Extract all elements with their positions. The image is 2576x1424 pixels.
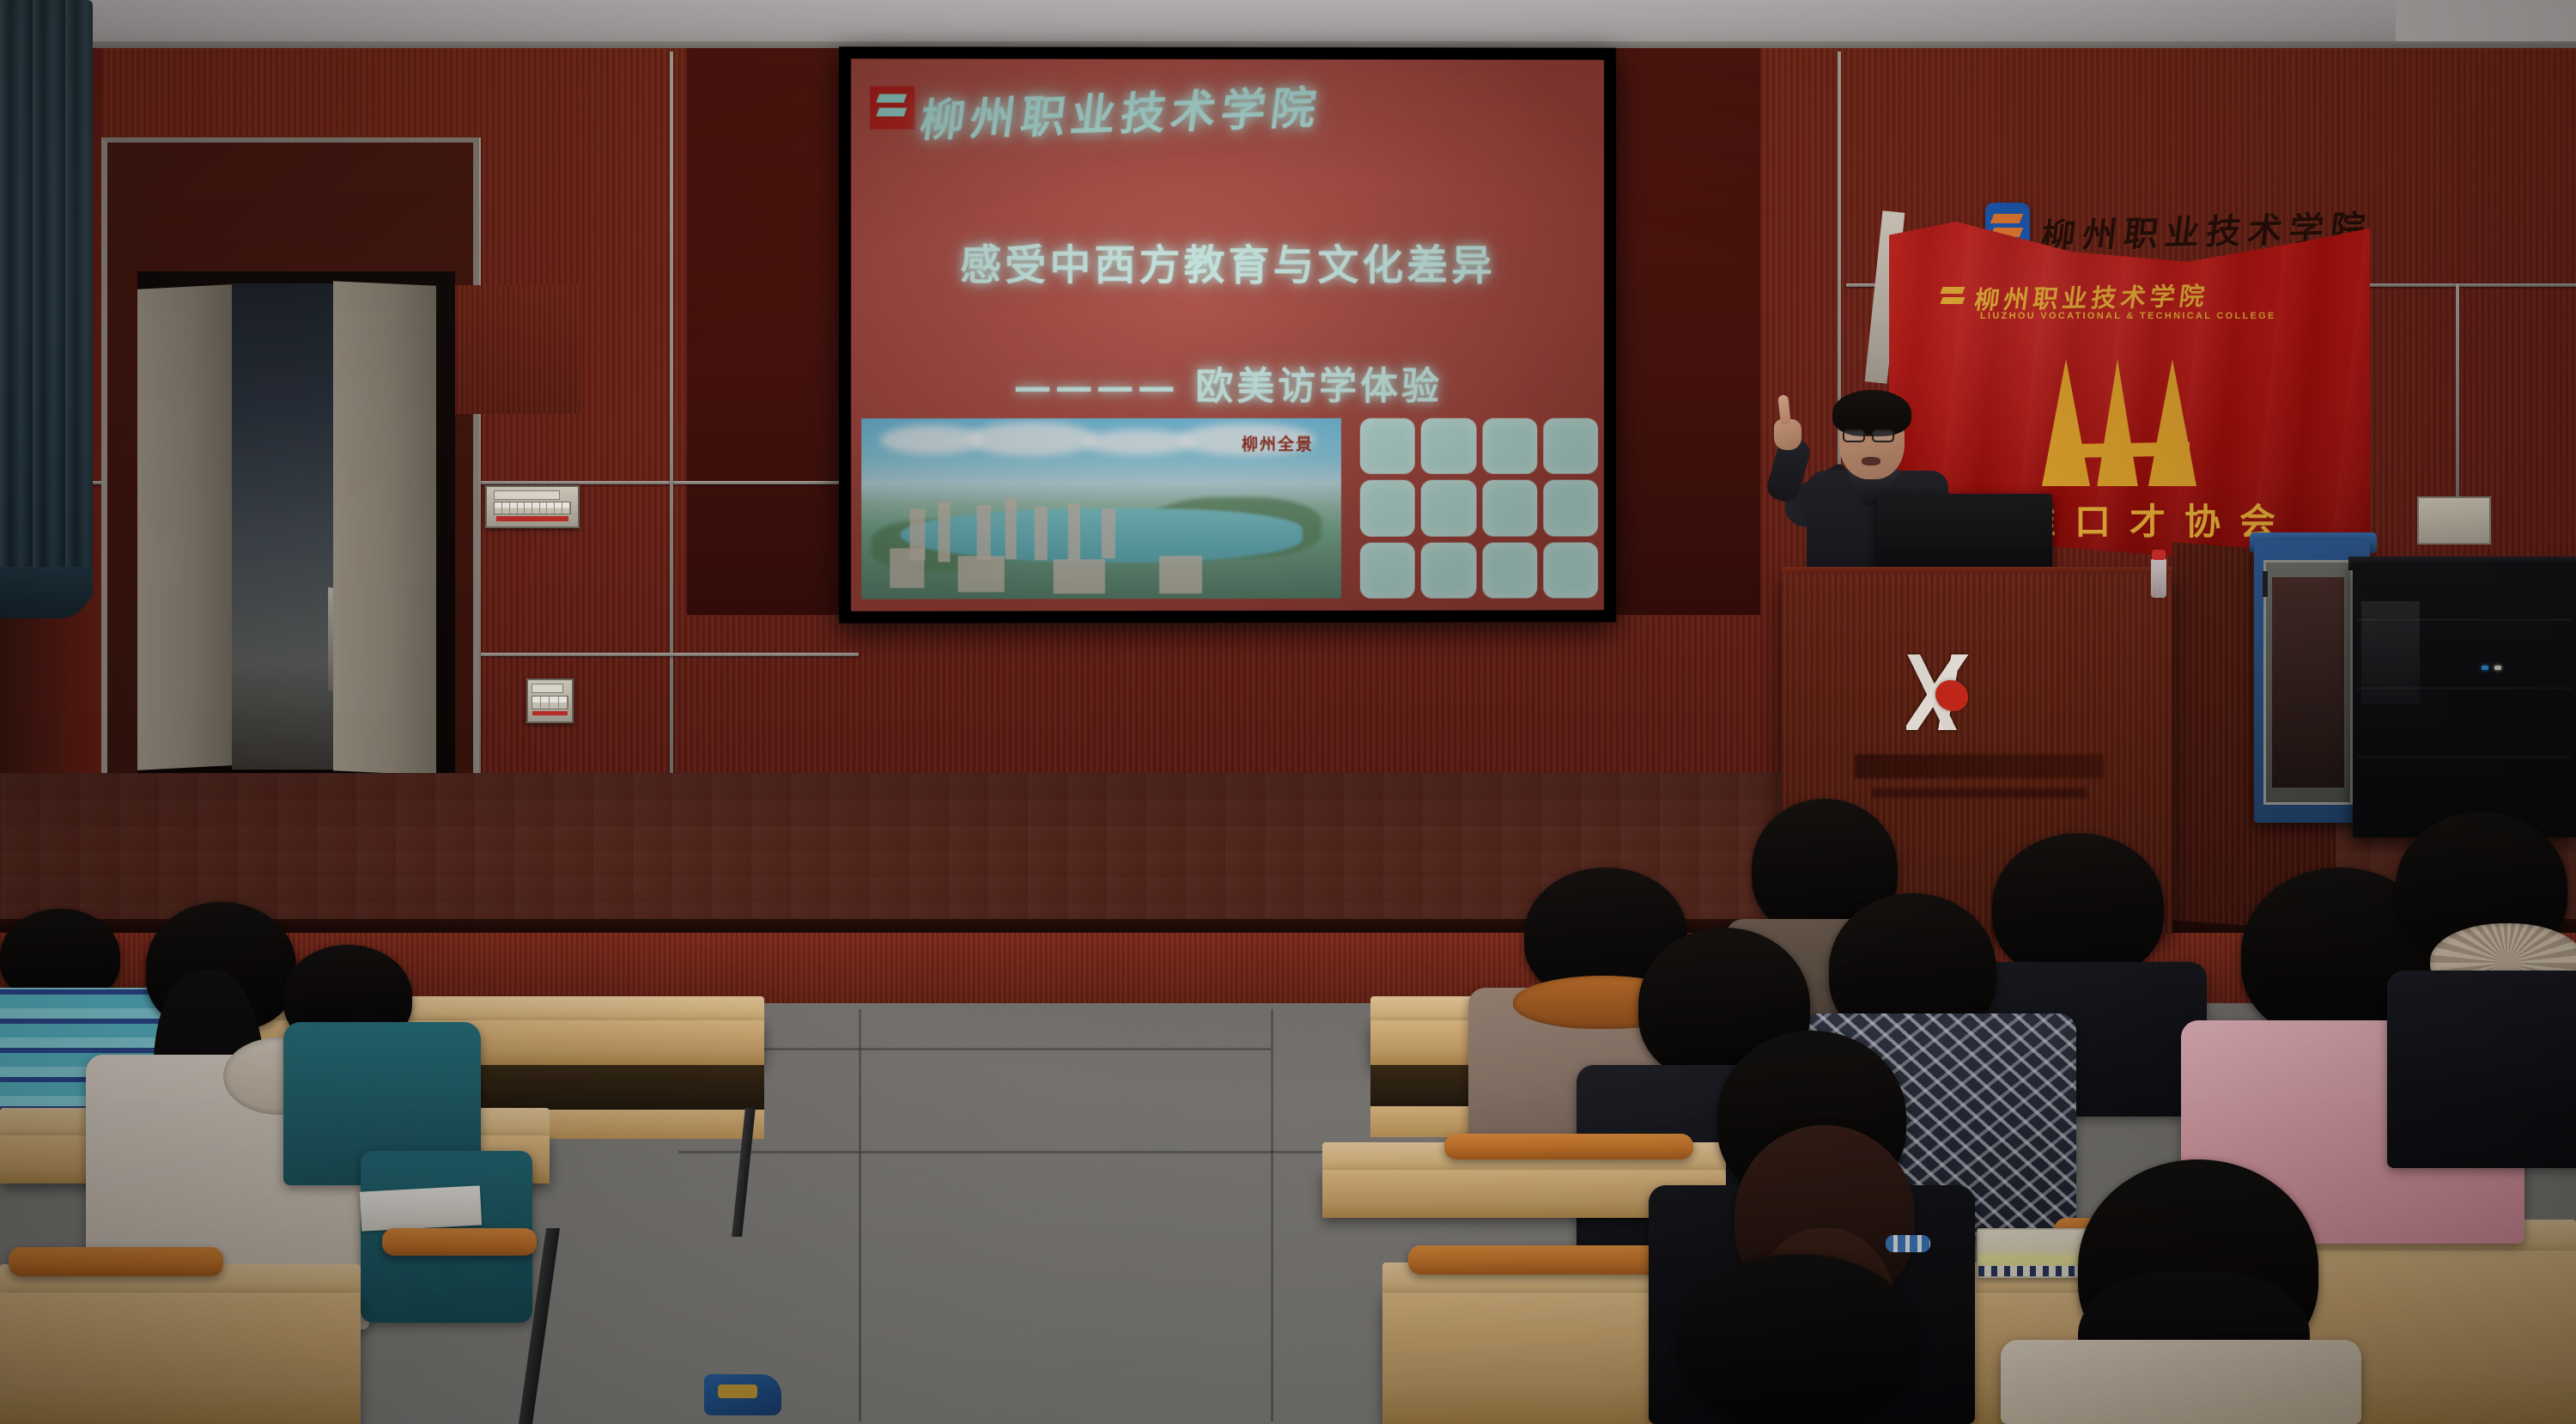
breaker-panel-small-stripe bbox=[532, 711, 568, 716]
av-rack-status-led bbox=[2494, 666, 2501, 670]
wall-control-cabinet[interactable] bbox=[2417, 496, 2491, 545]
floor-seam-c bbox=[859, 1009, 861, 1421]
tile bbox=[1543, 480, 1598, 536]
slide-tile-grid bbox=[1360, 418, 1598, 599]
cabinet-handle-icon[interactable] bbox=[2263, 571, 2268, 597]
podium-emblem-calligraphy bbox=[1906, 654, 1975, 730]
slide-title: 感受中西方教育与文化差异 bbox=[851, 231, 1604, 291]
av-rack-shelf bbox=[2357, 618, 2572, 621]
student-head bbox=[1992, 833, 2164, 979]
student-head bbox=[1679, 1254, 1919, 1424]
tile bbox=[1482, 480, 1537, 536]
note-paper bbox=[360, 1185, 482, 1231]
av-rack-status-led bbox=[2482, 666, 2488, 670]
corridor-beyond-door bbox=[232, 283, 335, 770]
podium-monitor[interactable] bbox=[1876, 494, 2052, 575]
presenter-glasses-right-lens bbox=[1872, 429, 1894, 442]
presenter-mouth bbox=[1862, 457, 1880, 466]
banner-college-name-en: LIUZHOU VOCATIONAL & TECHNICAL COLLEGE bbox=[1980, 311, 2276, 321]
desk bbox=[0, 1293, 361, 1424]
projection-screen: 柳州职业技术学院 感受中西方教育与文化差异 ———— 欧美访学体验 bbox=[851, 58, 1604, 611]
water-bottle-cap bbox=[2152, 550, 2166, 560]
water-bottle[interactable] bbox=[2151, 558, 2166, 598]
breaker-panel-small-label bbox=[532, 684, 563, 694]
door-leaf-left[interactable] bbox=[137, 284, 232, 770]
projection-screen-frame: 柳州职业技术学院 感受中西方教育与文化差异 ———— 欧美访学体验 bbox=[839, 46, 1616, 623]
podium-engraved-text bbox=[1855, 754, 2104, 778]
breaker-panel-red-stripe bbox=[496, 516, 569, 521]
pencil-box-pattern bbox=[1978, 1266, 2087, 1276]
student-torso bbox=[2001, 1340, 2361, 1424]
floor-seam-d bbox=[1271, 1009, 1273, 1421]
presenter-glasses-left-lens bbox=[1843, 429, 1865, 442]
podium-emblem-seal-icon bbox=[1935, 680, 1968, 711]
slide-photo-caption: 柳州全景 bbox=[1242, 432, 1314, 455]
slide-logo-icon bbox=[870, 86, 914, 129]
breaker-panel-label bbox=[494, 490, 559, 500]
av-rack-shelf bbox=[2357, 687, 2572, 690]
seat-back[interactable] bbox=[1408, 1245, 1674, 1275]
banner-ava-emblem bbox=[2042, 359, 2201, 486]
door-leaf-right[interactable] bbox=[333, 281, 436, 775]
tile bbox=[1543, 542, 1598, 598]
breaker-panel-small-switches[interactable] bbox=[532, 696, 568, 709]
floor-seam-a bbox=[721, 1048, 1271, 1050]
student-torso bbox=[2387, 971, 2576, 1168]
tile bbox=[1360, 480, 1415, 536]
small-pencil-box[interactable] bbox=[1977, 1228, 2088, 1278]
seat-back[interactable] bbox=[382, 1228, 537, 1256]
slide-city-photo: 柳州全景 bbox=[861, 418, 1341, 599]
tile bbox=[1421, 418, 1476, 474]
floor-seam-b bbox=[678, 1151, 1331, 1153]
slide-logo-text: 柳州职业技术学院 bbox=[917, 71, 1326, 149]
banner-college-logo-icon bbox=[1939, 283, 1968, 309]
tile bbox=[1360, 418, 1415, 474]
tile bbox=[1482, 542, 1537, 598]
door-opening[interactable] bbox=[137, 271, 455, 787]
seat-back[interactable] bbox=[1444, 1134, 1693, 1159]
tile bbox=[1543, 418, 1598, 474]
breaker-switch-row[interactable] bbox=[494, 502, 570, 514]
tile bbox=[1421, 542, 1476, 598]
av-rack-shelf bbox=[2357, 756, 2572, 758]
breaker-panel-large[interactable] bbox=[485, 485, 580, 528]
hair-tie bbox=[1886, 1235, 1930, 1252]
wall-seam-horizontal-lower bbox=[481, 653, 859, 656]
stage-curtain-hem bbox=[0, 567, 93, 618]
tile bbox=[1360, 542, 1415, 598]
shoe-logo-icon bbox=[718, 1384, 757, 1398]
tile bbox=[1482, 418, 1537, 474]
wall-seam-vertical-b bbox=[670, 52, 673, 790]
seat-back[interactable] bbox=[9, 1247, 223, 1276]
tile bbox=[1421, 480, 1476, 536]
slide-subtitle: ———— 欧美访学体验 bbox=[851, 356, 1604, 411]
breaker-panel-small[interactable] bbox=[526, 679, 574, 723]
lecture-hall-photo: 柳州职业技术学院 感受中西方教育与文化差异 ———— 欧美访学体验 bbox=[0, 0, 2576, 1424]
podium-engraved-subtext bbox=[1872, 788, 2087, 798]
network-cabinet-window bbox=[2272, 577, 2344, 788]
presenter-glasses-bridge bbox=[1865, 435, 1874, 436]
stage-curtain bbox=[0, 0, 93, 601]
presenter-pointing-finger bbox=[1777, 394, 1790, 424]
